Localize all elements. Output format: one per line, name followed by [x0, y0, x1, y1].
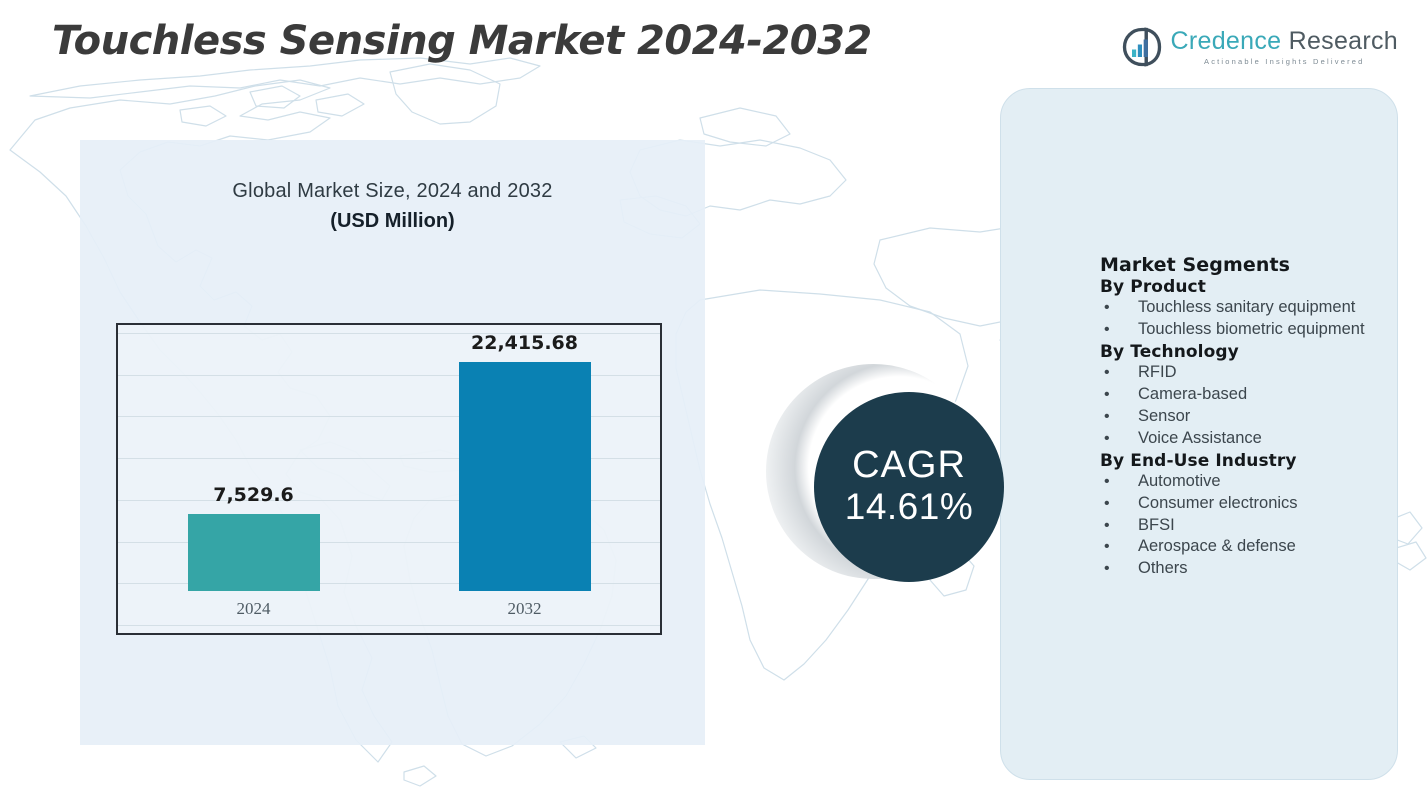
- bullet-icon: •: [1104, 428, 1110, 449]
- segment-list-item: •Sensor: [1100, 406, 1390, 428]
- logo-name-secondary: Research: [1281, 27, 1398, 55]
- logo-tagline: Actionable Insights Delivered: [1171, 58, 1398, 66]
- segments-title: Market Segments: [1100, 254, 1390, 276]
- segment-list: •Touchless sanitary equipment•Touchless …: [1100, 297, 1390, 341]
- market-segments: Market Segments By Product•Touchless san…: [1100, 254, 1390, 580]
- segment-item-label: Others: [1138, 559, 1188, 577]
- brand-logo: Credence Research Actionable Insights De…: [1122, 27, 1398, 67]
- segment-item-label: Touchless biometric equipment: [1138, 320, 1365, 338]
- segment-list-item: •Voice Assistance: [1100, 428, 1390, 450]
- x-tick-2024: 2024: [237, 599, 271, 619]
- bullet-icon: •: [1104, 319, 1110, 340]
- segment-group-heading: By Product: [1100, 277, 1390, 297]
- bar-chart: 7,529.622,415.68 20242032: [116, 323, 662, 635]
- chart-plot-area: 7,529.622,415.68: [118, 325, 660, 591]
- x-tick-2032: 2032: [508, 599, 542, 619]
- segment-list-item: •Aerospace & defense: [1100, 536, 1390, 558]
- bullet-icon: •: [1104, 297, 1110, 318]
- logo-wordmark: Credence Research Actionable Insights De…: [1171, 29, 1398, 66]
- infographic-root: Touchless Sensing Market 2024-2032 Crede…: [0, 0, 1428, 804]
- segment-item-label: Consumer electronics: [1138, 494, 1298, 512]
- cagr-circle: CAGR 14.61%: [814, 392, 1004, 582]
- logo-name-primary: Credence: [1171, 27, 1282, 55]
- segment-item-label: Automotive: [1138, 472, 1221, 490]
- segment-list-item: •Touchless biometric equipment: [1100, 319, 1390, 341]
- bar-value-label: 7,529.6: [213, 484, 294, 506]
- segment-list-item: •BFSI: [1100, 515, 1390, 537]
- bar-rect: [188, 514, 320, 591]
- bar-chart-circle-logo-icon: [1122, 27, 1162, 67]
- segment-list-item: •RFID: [1100, 362, 1390, 384]
- segment-item-label: Touchless sanitary equipment: [1138, 298, 1355, 316]
- chart-x-axis: 20242032: [118, 591, 660, 633]
- segment-list-item: •Touchless sanitary equipment: [1100, 297, 1390, 319]
- bullet-icon: •: [1104, 384, 1110, 405]
- bar-2024: 7,529.6: [188, 514, 320, 591]
- chart-heading-line1: Global Market Size, 2024 and 2032: [80, 180, 705, 203]
- bullet-icon: •: [1104, 406, 1110, 427]
- segment-list-item: •Camera-based: [1100, 384, 1390, 406]
- bullet-icon: •: [1104, 471, 1110, 492]
- page-title: Touchless Sensing Market 2024-2032: [52, 18, 872, 64]
- segment-item-label: Sensor: [1138, 407, 1190, 425]
- segment-item-label: Aerospace & defense: [1138, 537, 1296, 555]
- segment-group-heading: By End-Use Industry: [1100, 451, 1390, 471]
- segment-item-label: RFID: [1138, 363, 1177, 381]
- segment-list-item: •Consumer electronics: [1100, 493, 1390, 515]
- segment-list: •RFID•Camera-based•Sensor•Voice Assistan…: [1100, 362, 1390, 450]
- chart-heading: Global Market Size, 2024 and 2032 (USD M…: [80, 180, 705, 233]
- chart-heading-line2: (USD Million): [80, 210, 705, 233]
- segment-list-item: •Automotive: [1100, 471, 1390, 493]
- cagr-badge: CAGR 14.61%: [766, 364, 1016, 614]
- cagr-value: 14.61%: [845, 486, 974, 529]
- segment-item-label: Voice Assistance: [1138, 429, 1262, 447]
- bar-2032: 22,415.68: [459, 362, 591, 591]
- bullet-icon: •: [1104, 558, 1110, 579]
- segment-list: •Automotive•Consumer electronics•BFSI•Ae…: [1100, 471, 1390, 581]
- segment-group-heading: By Technology: [1100, 342, 1390, 362]
- bullet-icon: •: [1104, 493, 1110, 514]
- bullet-icon: •: [1104, 536, 1110, 557]
- segment-item-label: BFSI: [1138, 516, 1175, 534]
- bar-rect: [459, 362, 591, 591]
- bullet-icon: •: [1104, 362, 1110, 383]
- segment-item-label: Camera-based: [1138, 385, 1247, 403]
- segment-list-item: •Others: [1100, 558, 1390, 580]
- cagr-label: CAGR: [852, 446, 966, 486]
- bar-value-label: 22,415.68: [471, 332, 578, 354]
- bullet-icon: •: [1104, 515, 1110, 536]
